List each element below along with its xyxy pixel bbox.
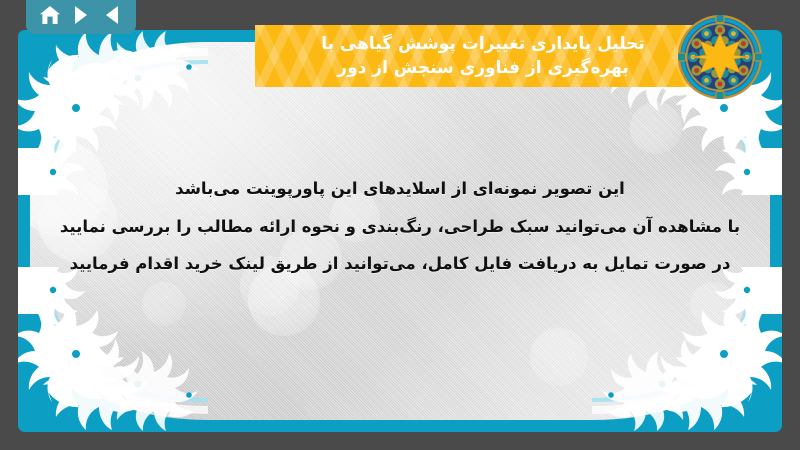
slide-frame: این تصویر نمونه‌ای از اسلایدهای این پاور… <box>18 30 782 432</box>
page-title-line-2: بهره‌گیری از فناوری سنجش از دور <box>337 56 628 80</box>
bokeh-circle <box>530 328 588 386</box>
bokeh-circle <box>142 282 186 326</box>
previous-slide-button[interactable] <box>99 3 125 27</box>
slide-body-text: این تصویر نمونه‌ای از اسلایدهای این پاور… <box>58 170 742 283</box>
body-line: این تصویر نمونه‌ای از اسلایدهای این پاور… <box>58 170 742 208</box>
triangle-right-icon <box>72 5 90 25</box>
page-title-line-1: تحلیل پایداری تغییرات پوشش گیاهی با <box>321 32 645 56</box>
banner-left-cap <box>711 25 725 87</box>
bokeh-circle <box>630 102 682 154</box>
slide-navigation-bar <box>26 0 136 34</box>
home-icon <box>39 5 61 26</box>
home-button[interactable] <box>37 3 63 27</box>
banner-body: تحلیل پایداری تغییرات پوشش گیاهی با بهره… <box>255 25 711 87</box>
bokeh-circle <box>690 282 736 328</box>
body-line: با مشاهده آن می‌توانید سبک طراحی، رنگ‌بن… <box>58 208 742 246</box>
slide-title-banner: تحلیل پایداری تغییرات پوشش گیاهی با بهره… <box>255 25 725 87</box>
next-slide-button[interactable] <box>68 3 94 27</box>
triangle-left-icon <box>103 5 121 25</box>
slide-viewer: این تصویر نمونه‌ای از اسلایدهای این پاور… <box>0 0 800 450</box>
body-line: در صورت تمایل به دریافت فایل کامل، می‌تو… <box>58 245 742 283</box>
